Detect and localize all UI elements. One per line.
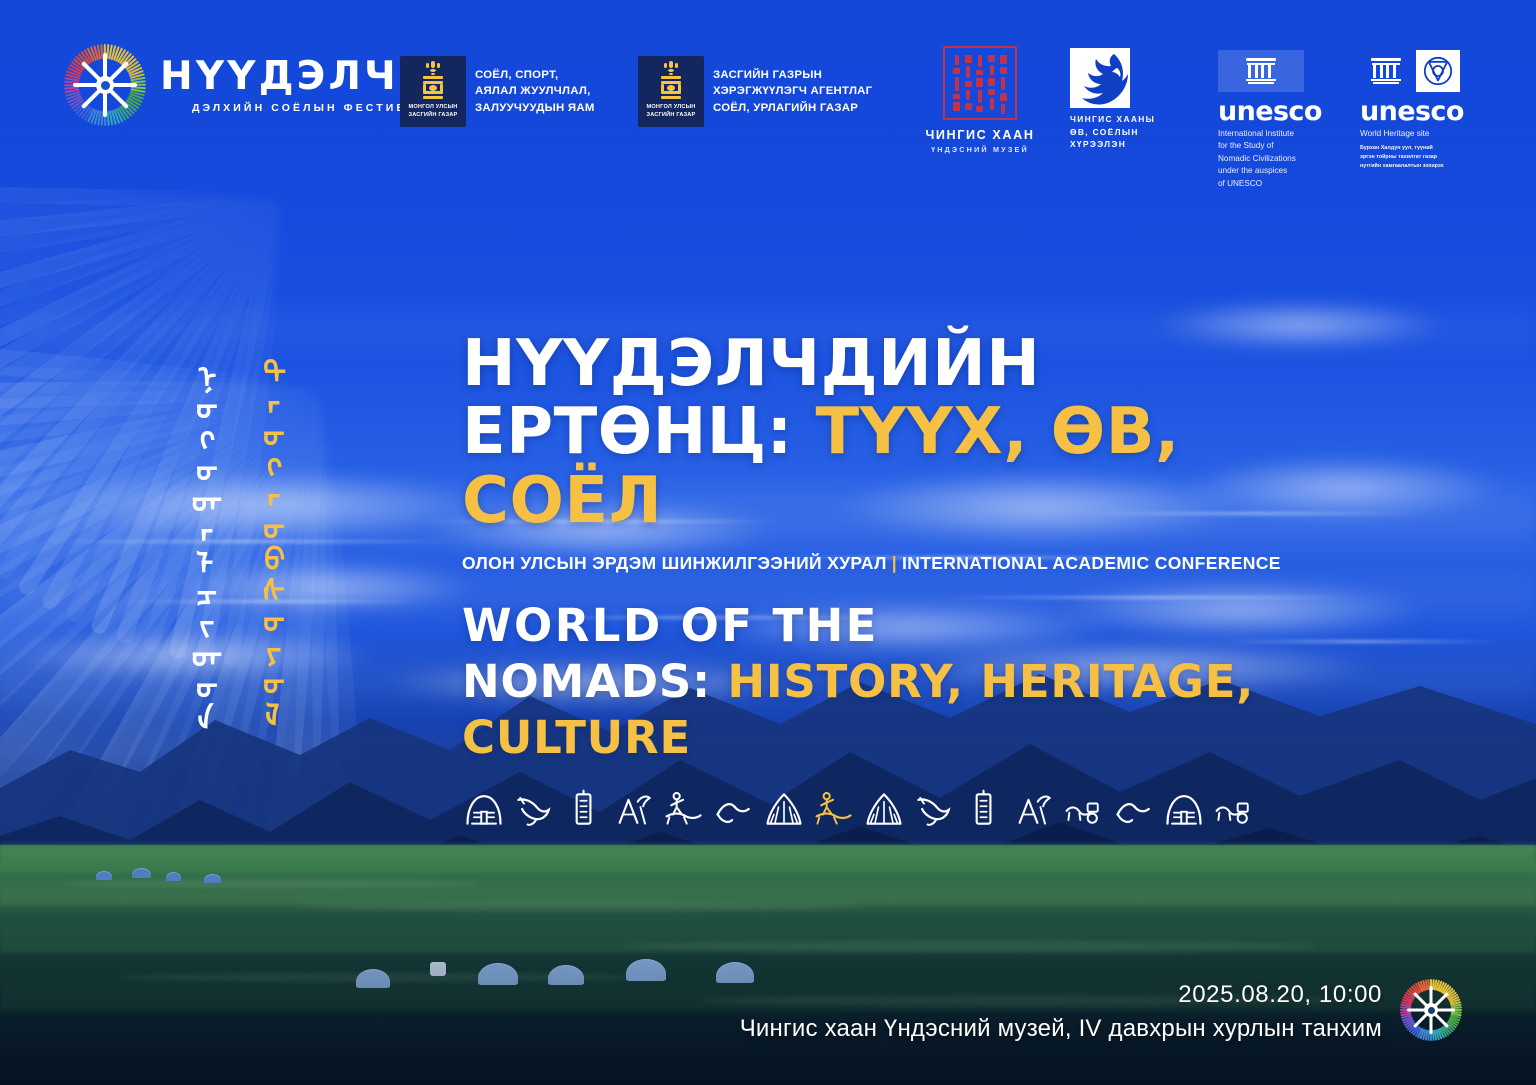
unesco-temple-icon xyxy=(1360,50,1412,92)
heritage-park-line1: ЧИНГИС ХААНЫ xyxy=(1070,113,1188,126)
agency-label-line1: ЗАСГИЙН ГАЗРЫН xyxy=(713,67,872,83)
ger-icon xyxy=(96,871,112,880)
gov-badge-line1: МОНГОЛ УЛСЫН xyxy=(409,103,458,111)
heritage-park-line3: ХҮРЭЭЛЭН xyxy=(1070,138,1188,151)
horse-rider-gold-icon xyxy=(812,786,856,832)
wh-mn-line3: нутгийн хамгаалалтын зохирэх xyxy=(1360,162,1482,171)
unesco-tag-line4: under the auspices xyxy=(1218,165,1340,177)
title-mn-line2-white: ЕРТӨНЦ: xyxy=(462,395,793,469)
poster-canvas: НҮҮДЭЛЧИН ДЭЛХИЙН СОЁЛЫН ФЕСТИВАЛЬ МОНГО… xyxy=(0,0,1536,1085)
deer-stone-icon xyxy=(1012,786,1056,832)
conference-subtitle-mn: ОЛОН УЛСЫН ЭРДЭМ ШИНЖИЛГЭЭНИЙ ХУРАЛ xyxy=(462,553,887,573)
camel-cart-icon xyxy=(1212,786,1256,832)
title-mongolian: НҮҮДЭЛЧДИЙН ЕРТӨНЦ: ТҮҮХ, ӨВ, СОЁЛ xyxy=(462,330,1332,535)
world-heritage-icon xyxy=(1416,50,1460,92)
unesco-tag-line2: for the Study of xyxy=(1218,140,1340,152)
footer-block: 2025.08.20, 10:00 Чингис хаан Үндэсний м… xyxy=(740,979,1462,1043)
fan-ornament-icon xyxy=(862,786,906,832)
ger-icon xyxy=(462,786,506,832)
partner-logo-agency[interactable]: МОНГОЛ УЛСЫН ЗАСГИЙН ГАЗАР ЗАСГИЙН ГАЗРЫ… xyxy=(638,56,872,127)
event-datetime: 2025.08.20, 10:00 xyxy=(740,981,1382,1009)
agency-label-line3: СОЁЛ, УРЛАГИЙН ГАЗАР xyxy=(713,100,872,116)
ovoo-stele-icon xyxy=(562,786,606,832)
chinggis-portrait-icon xyxy=(1070,48,1130,108)
partner-logo-heritage-park[interactable]: ЧИНГИС ХААНЫ ӨВ, СОЁЛЫН ХҮРЭЭЛЭН xyxy=(1070,48,1188,151)
partner-logo-unesco-heritage[interactable]: unesco World Heritage site Бурхан Халдун… xyxy=(1360,50,1482,170)
agency-label-line2: ХЭРЭГЖҮҮЛЭГЧ АГЕНТЛАГ xyxy=(713,83,872,99)
vertical-mongol-script-gold: ᠲᠡᠦᠬᠡᠥᠪᠰᠤᠶᠤᠯ xyxy=(252,356,281,728)
title-en-line2: NOMADS: HISTORY, HERITAGE, CULTURE xyxy=(462,654,1332,766)
ministry-label: СОЁЛ, СПОРТ, АЯЛАЛ ЖУУЛЧЛАЛ, ЗАЛУУЧУУДЫН… xyxy=(475,67,595,116)
unesco-tag-line5: of UNESCO xyxy=(1218,178,1340,190)
unesco-tag-line3: Nomadic Civilizations xyxy=(1218,153,1340,165)
soyombo-emblem-icon: МОНГОЛ УЛСЫН ЗАСГИЙН ГАЗАР xyxy=(400,56,466,127)
partner-logo-ministry[interactable]: МОНГОЛ УЛСЫН ЗАСГИЙН ГАЗАР СОЁЛ, СПОРТ, … xyxy=(400,56,595,127)
mongol-script-white-glyphs: ᠨᠦᠭᠦᠳᠡᠯᠴᠢᠳᠦᠨ xyxy=(185,360,214,732)
event-venue: Чингис хаан Үндэсний музей, IV давхрын х… xyxy=(740,1015,1382,1043)
bow-icon xyxy=(1112,786,1156,832)
fan-ornament-icon xyxy=(762,786,806,832)
title-en-line1: WORLD OF THE xyxy=(462,598,1332,654)
conference-subtitle: ОЛОН УЛСЫН ЭРДЭМ ШИНЖИЛГЭЭНИЙ ХУРАЛ|INTE… xyxy=(462,553,1332,574)
mongol-script-gold-glyphs: ᠲᠡᠦᠬᠡᠥᠪᠰᠤᠶᠤᠯ xyxy=(252,356,281,728)
ger-icon xyxy=(1162,786,1206,832)
heritage-park-line2: ӨВ, СОЁЛЫН xyxy=(1070,126,1188,139)
mongol-script-square-icon xyxy=(943,46,1017,120)
ger-icon xyxy=(166,872,181,881)
unesco-temple-icon xyxy=(1218,50,1304,92)
title-mn-line2: ЕРТӨНЦ: ТҮҮХ, ӨВ, СОЁЛ xyxy=(462,398,1332,535)
unesco-wordmark: unesco xyxy=(1360,98,1482,125)
gov-badge-line1: МОНГОЛ УЛСЫН xyxy=(647,103,696,111)
wh-mn-line1: Бурхан Халдун уул, түүний xyxy=(1360,144,1482,153)
agency-label: ЗАСГИЙН ГАЗРЫН ХЭРЭГЖҮҮЛЭГЧ АГЕНТЛАГ СОЁ… xyxy=(713,67,872,116)
title-mn-line1: НҮҮДЭЛЧДИЙН xyxy=(462,330,1332,398)
heritage-park-label: ЧИНГИС ХААНЫ ӨВ, СОЁЛЫН ХҮРЭЭЛЭН xyxy=(1070,113,1188,151)
unesco-institute-tagline: International Institute for the Study of… xyxy=(1218,128,1340,190)
museum-name: ЧИНГИС ХААН xyxy=(924,128,1036,142)
vertical-mongol-script-white: ᠨᠦᠭᠦᠳᠡᠯᠴᠢᠳᠦᠨ xyxy=(185,360,214,732)
partner-logo-unesco-institute[interactable]: unesco International Institute for the S… xyxy=(1218,50,1340,190)
soyombo-emblem-icon: МОНГОЛ УЛСЫН ЗАСГИЙН ГАЗАР xyxy=(638,56,704,127)
deer-stone-icon xyxy=(612,786,656,832)
gov-badge-line2: ЗАСГИЙН ГАЗАР xyxy=(409,111,458,119)
conference-separator: | xyxy=(887,553,902,573)
ministry-label-line1: СОЁЛ, СПОРТ, xyxy=(475,67,595,83)
title-en-line2-white: NOMADS: xyxy=(462,655,711,708)
conference-subtitle-en: INTERNATIONAL ACADEMIC CONFERENCE xyxy=(902,553,1281,573)
horse-rider-icon xyxy=(662,786,706,832)
horse-head-icon xyxy=(512,786,556,832)
ovoo-stele-icon xyxy=(962,786,1006,832)
gov-badge-line2: ЗАСГИЙН ГАЗАР xyxy=(647,111,696,119)
main-title-block: НҮҮДЭЛЧДИЙН ЕРТӨНЦ: ТҮҮХ, ӨВ, СОЁЛ ОЛОН … xyxy=(462,330,1332,832)
wh-mn-line2: эргэн тойрны тахилгат газар xyxy=(1360,153,1482,162)
bow-icon xyxy=(712,786,756,832)
header-logo-bar: НҮҮДЭЛЧИН ДЭЛХИЙН СОЁЛЫН ФЕСТИВАЛЬ МОНГО… xyxy=(0,0,1536,168)
ministry-label-line3: ЗАЛУУЧУУДЫН ЯАМ xyxy=(475,100,595,116)
title-english: WORLD OF THE NOMADS: HISTORY, HERITAGE, … xyxy=(462,598,1332,765)
pictogram-row xyxy=(462,782,1332,832)
world-heritage-tagline-mn: Бурхан Халдун уул, түүний эргэн тойрны т… xyxy=(1360,144,1482,170)
world-heritage-tagline: World Heritage site xyxy=(1360,128,1482,140)
partner-logo-museum[interactable]: ЧИНГИС ХААН ҮНДЭСНИЙ МУЗЕЙ xyxy=(924,46,1036,154)
ger-icon xyxy=(132,868,151,878)
museum-subtitle: ҮНДЭСНИЙ МУЗЕЙ xyxy=(924,145,1036,154)
unesco-wordmark: unesco xyxy=(1218,98,1340,125)
sun-wheel-icon xyxy=(64,44,146,126)
sun-wheel-icon xyxy=(1400,979,1462,1041)
ministry-label-line2: АЯЛАЛ ЖУУЛЧЛАЛ, xyxy=(475,83,595,99)
ger-icon xyxy=(204,874,221,883)
unesco-tag-line1: International Institute xyxy=(1218,128,1340,140)
camel-cart-icon xyxy=(1062,786,1106,832)
horse-head-icon xyxy=(912,786,956,832)
